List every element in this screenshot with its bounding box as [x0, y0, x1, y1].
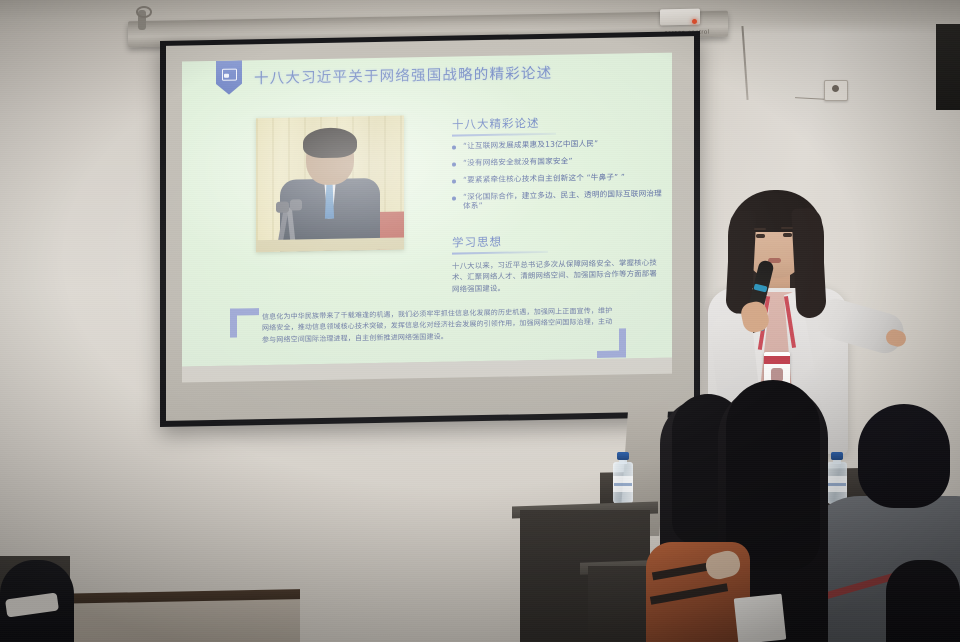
- lecture-room-photo: screen-control 十八大习近平关于网络强国战略的精彩论述: [0, 0, 960, 642]
- projection-screen: 十八大习近平关于网络强国战略的精彩论述 十八大精彩论述: [160, 31, 700, 427]
- wall-dark-panel: [936, 24, 960, 110]
- section-body-text: 十八大以来，习近平总书记多次从保障网络安全、掌握核心技术、汇聚网络人才、清朗网络…: [452, 257, 658, 295]
- presenter-eye-right: [783, 233, 792, 237]
- shield-inner-glyph: [222, 69, 237, 81]
- photo-mic-head-icon-2: [290, 199, 302, 210]
- water-bottle-left: [613, 452, 633, 504]
- bullet-dot-icon: [452, 163, 456, 167]
- list-item: “没有网络安全就没有国家安全”: [452, 155, 664, 168]
- screen-surface: 十八大习近平关于网络强国战略的精彩论述 十八大精彩论述: [166, 36, 694, 421]
- presenter-eye-left: [756, 234, 765, 238]
- photo-mic-head-icon: [276, 202, 289, 213]
- bullet-text: “没有网络安全就没有国家安全”: [463, 156, 573, 167]
- slide-title: 十八大习近平关于网络强国战略的精彩论述: [254, 62, 552, 88]
- bullet-text: “让互联网发展成果惠及13亿中国人民”: [463, 139, 598, 151]
- list-item: “要紧紧牵住核心技术自主创新这个 “牛鼻子” ”: [452, 172, 664, 185]
- wall-junction-box-icon: [824, 80, 848, 101]
- power-led-icon: [692, 19, 697, 24]
- bullet-dot-icon: [452, 146, 456, 150]
- badge-header-band: [764, 356, 790, 364]
- slide-title-bar: 十八大习近平关于网络强国战略的精彩论述: [182, 53, 672, 102]
- list-item: “深化国际合作，建立多边、民主、透明的国际互联网治理体系”: [452, 189, 664, 212]
- section-rule-2: [452, 251, 548, 254]
- bullet-dot-icon: [452, 179, 456, 183]
- quote-text: 信息化为中华民族带来了千载难逢的机遇，我们必须牢牢抓住信息化发展的历史机遇，加强…: [262, 306, 614, 346]
- bottle-cap: [617, 452, 629, 460]
- bullet-text: “要紧紧牵住核心技术自主创新这个 “牛鼻子” ”: [463, 172, 625, 184]
- section-heading-2: 学习思想: [452, 234, 502, 251]
- slide-bullet-list: “让互联网发展成果惠及13亿中国人民” “没有网络安全就没有国家安全” “要紧紧…: [452, 138, 664, 219]
- shield-emblem-icon: [216, 60, 242, 94]
- section-heading-1: 十八大精彩论述: [452, 115, 540, 133]
- presenter-brow-left: [754, 228, 766, 230]
- presenter-brow-right: [781, 227, 793, 229]
- bottle-cap: [831, 452, 843, 460]
- quote-corner-top-left-icon: [230, 308, 259, 338]
- bullet-dot-icon: [452, 196, 456, 200]
- slide-quote-block: 信息化为中华民族带来了千载难逢的机遇，我们必须牢牢抓住信息化发展的历史机遇，加强…: [230, 301, 626, 364]
- slide-photo: [256, 115, 404, 252]
- photo-desk: [256, 237, 404, 252]
- paper-sheet: [734, 594, 787, 642]
- bottle-label-stripe: [614, 483, 632, 486]
- audience-head-grey-shirt: [858, 404, 950, 508]
- audience-member-right-foreground: [886, 560, 960, 642]
- audience-hair-center-b: [726, 380, 820, 570]
- bullet-text: “深化国际合作，建立多边、民主、透明的国际互联网治理体系”: [463, 189, 664, 212]
- bottle-label-stripe: [828, 483, 846, 486]
- section-rule-1: [452, 133, 556, 136]
- list-item: “让互联网发展成果惠及13亿中国人民”: [452, 138, 664, 151]
- water-bottle-right: [827, 452, 847, 504]
- projected-slide: 十八大习近平关于网络强国战略的精彩论述 十八大精彩论述: [182, 53, 672, 367]
- presenter-hair-right: [791, 207, 827, 318]
- roller-mount-bracket: [138, 10, 146, 30]
- photo-hair: [303, 127, 357, 158]
